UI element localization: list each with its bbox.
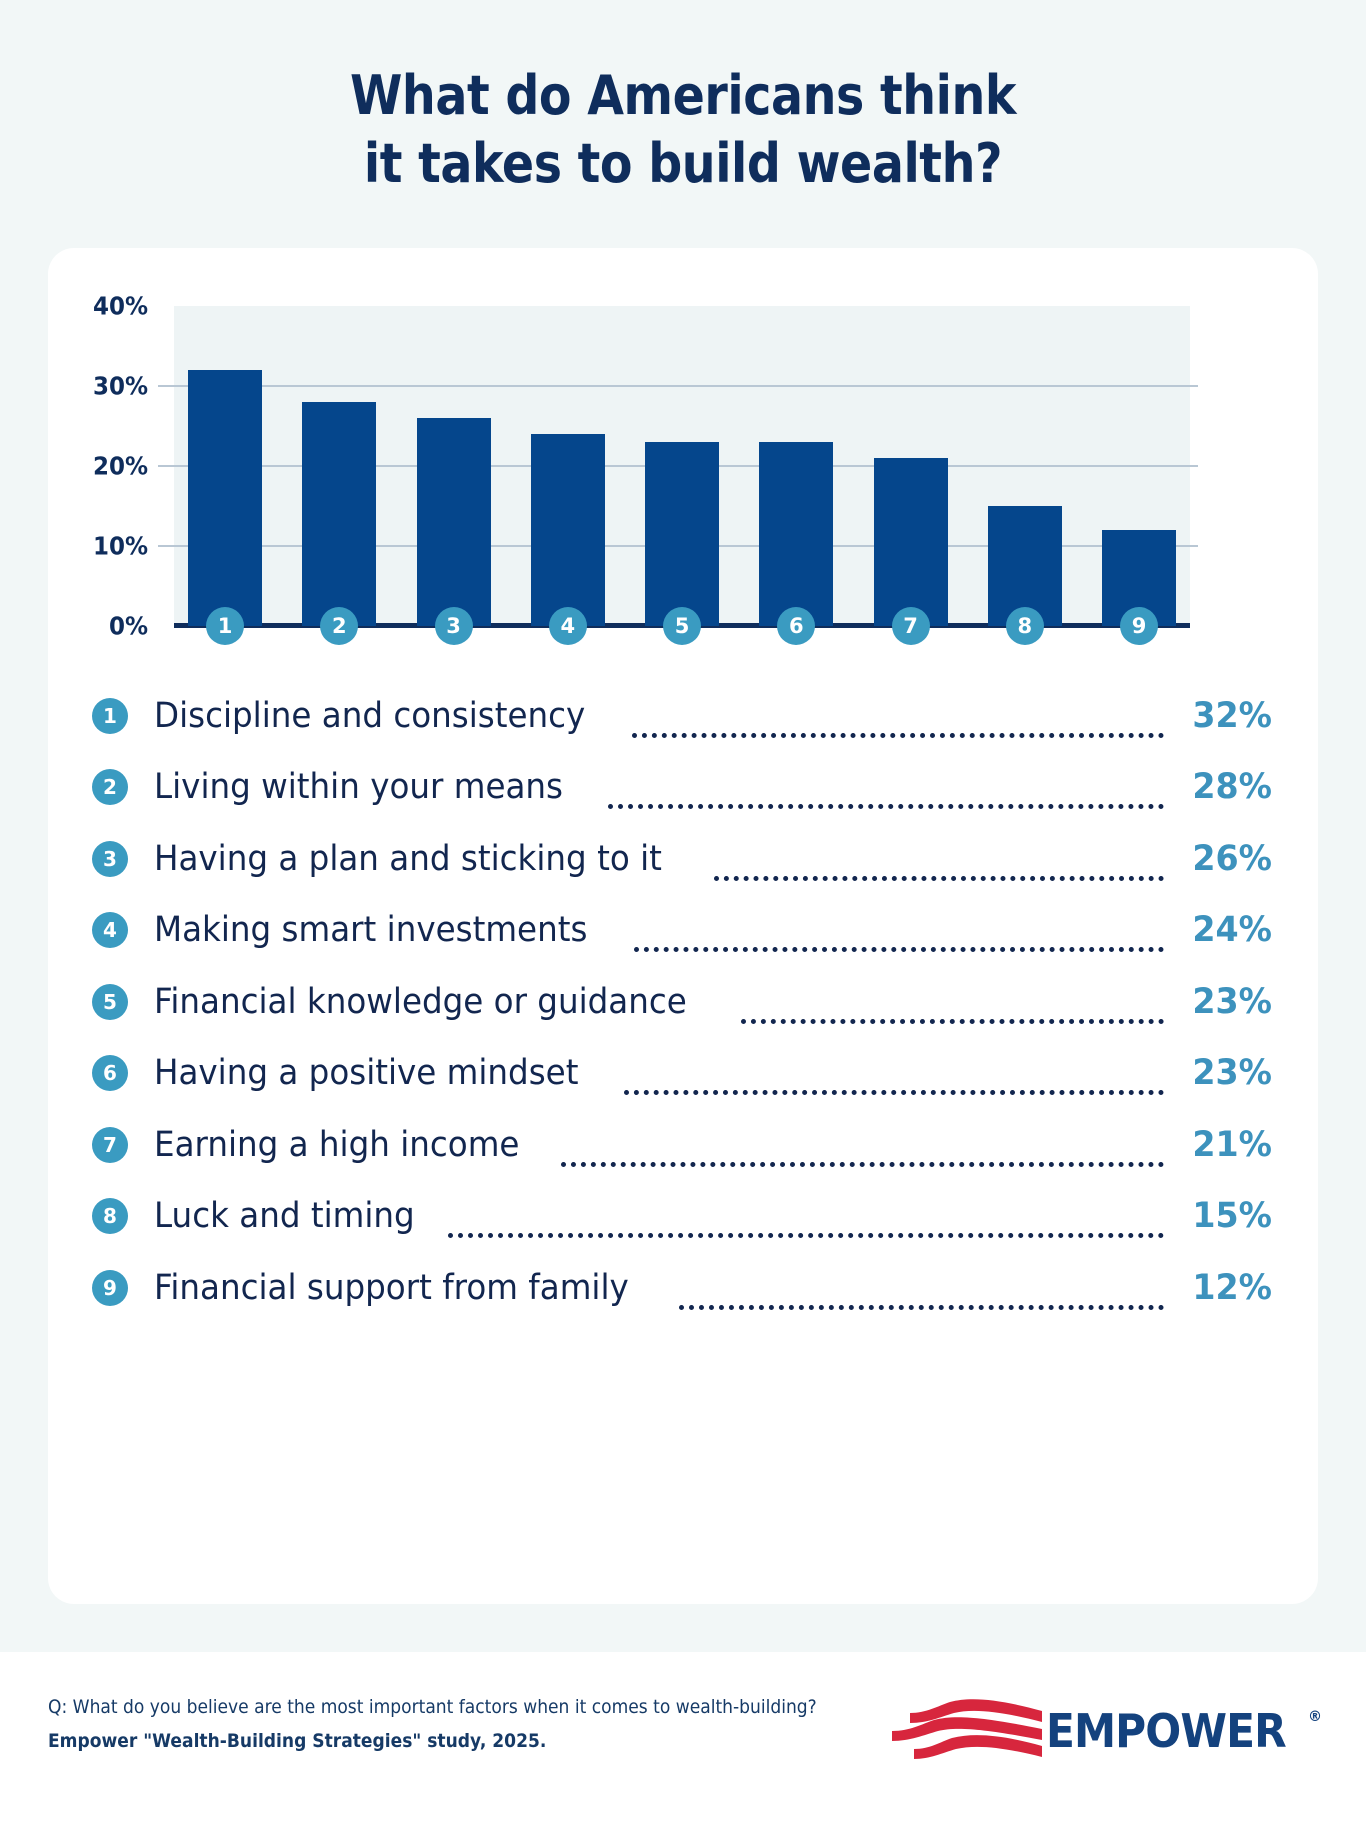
- dot-leader: [624, 1061, 1164, 1095]
- dot-leader: [679, 1276, 1165, 1310]
- bar-rank-badge: 5: [663, 607, 701, 645]
- bar-series: 123456789: [174, 306, 1190, 626]
- footer-source: Empower "Wealth-Building Strategies" stu…: [48, 1724, 786, 1758]
- list-item: 9Financial support from family12%: [92, 1252, 1272, 1324]
- bar-column: 2: [302, 306, 376, 626]
- bar: [188, 370, 262, 626]
- list-item-value: 21%: [1181, 1125, 1272, 1165]
- dot-leader: [632, 704, 1164, 738]
- ranked-list: 1Discipline and consistency32%2Living wi…: [92, 680, 1272, 1324]
- bar-column: 7: [874, 306, 948, 626]
- dot-leader: [448, 1204, 1164, 1238]
- list-item-label: Having a positive mindset: [154, 1053, 578, 1093]
- bar-rank-badge: 2: [320, 607, 358, 645]
- list-item-value: 32%: [1181, 696, 1272, 736]
- bar-column: 6: [759, 306, 833, 626]
- content-card: 40%30%20%10%0% 123456789 1Discipline and…: [48, 248, 1318, 1604]
- list-item-rank-badge: 2: [92, 769, 128, 805]
- y-axis-tick-label: 40%: [56, 294, 148, 319]
- list-item-value: 28%: [1181, 767, 1272, 807]
- list-item: 3Having a plan and sticking to it26%: [92, 823, 1272, 895]
- dot-leader: [634, 918, 1164, 952]
- list-item-label: Living within your means: [154, 767, 563, 807]
- empower-waves-icon: [892, 1698, 1042, 1765]
- plot-area-wrapper: 123456789: [158, 306, 1198, 626]
- list-item-value: 26%: [1181, 839, 1272, 879]
- bar-column: 1: [188, 306, 262, 626]
- registered-trademark-icon: ®: [1308, 1710, 1322, 1724]
- list-item-label: Earning a high income: [154, 1125, 519, 1165]
- dot-leader: [714, 847, 1164, 881]
- bar-column: 8: [988, 306, 1062, 626]
- y-axis-labels: 40%30%20%10%0%: [48, 306, 148, 626]
- bar-rank-badge: 4: [549, 607, 587, 645]
- bar: [302, 402, 376, 626]
- infographic-page: What do Americans think it takes to buil…: [0, 0, 1366, 1822]
- list-item: 6Having a positive mindset23%: [92, 1038, 1272, 1110]
- bar-rank-badge: 1: [206, 607, 244, 645]
- list-item: 7Earning a high income21%: [92, 1109, 1272, 1181]
- dot-leader: [561, 1133, 1164, 1167]
- page-title-line-1: What do Americans think: [82, 62, 1284, 130]
- list-item-label: Having a plan and sticking to it: [154, 839, 662, 879]
- footer-text-block: Q: What do you believe are the most impo…: [48, 1690, 868, 1758]
- bar: [759, 442, 833, 626]
- empower-wordmark: EMPOWER: [1046, 1708, 1286, 1754]
- y-axis-tick-label: 0%: [56, 614, 148, 639]
- bar: [417, 418, 491, 626]
- list-item-rank-badge: 9: [92, 1270, 128, 1306]
- list-item-rank-badge: 5: [92, 984, 128, 1020]
- page-title: What do Americans think it takes to buil…: [82, 62, 1284, 198]
- y-axis-tick-label: 10%: [56, 534, 148, 559]
- list-item-value: 24%: [1181, 910, 1272, 950]
- list-item-rank-badge: 6: [92, 1055, 128, 1091]
- bar: [531, 434, 605, 626]
- list-item-label: Making smart investments: [154, 910, 587, 950]
- list-item-label: Financial support from family: [154, 1268, 629, 1308]
- bar-rank-badge: 8: [1006, 607, 1044, 645]
- list-item-value: 15%: [1181, 1196, 1272, 1236]
- list-item-value: 23%: [1181, 982, 1272, 1022]
- bar-chart: 40%30%20%10%0% 123456789: [48, 248, 1318, 668]
- footer: Q: What do you believe are the most impo…: [0, 1652, 1366, 1822]
- bar-rank-badge: 3: [435, 607, 473, 645]
- list-item-label: Financial knowledge or guidance: [154, 982, 687, 1022]
- list-item-rank-badge: 7: [92, 1127, 128, 1163]
- bar-column: 3: [417, 306, 491, 626]
- list-item-value: 12%: [1181, 1268, 1272, 1308]
- dot-leader: [741, 990, 1164, 1024]
- list-item-label: Luck and timing: [154, 1196, 415, 1236]
- y-axis-tick-label: 20%: [56, 454, 148, 479]
- footer-question: Q: What do you believe are the most impo…: [48, 1690, 786, 1724]
- list-item: 5Financial knowledge or guidance23%: [92, 966, 1272, 1038]
- list-item-rank-badge: 1: [92, 698, 128, 734]
- list-item-rank-badge: 3: [92, 841, 128, 877]
- list-item-label: Discipline and consistency: [154, 696, 585, 736]
- bar: [645, 442, 719, 626]
- bar: [874, 458, 948, 626]
- list-item-rank-badge: 8: [92, 1198, 128, 1234]
- bar-column: 5: [645, 306, 719, 626]
- bar-rank-badge: 9: [1120, 607, 1158, 645]
- bar-column: 9: [1102, 306, 1176, 626]
- list-item-rank-badge: 4: [92, 912, 128, 948]
- list-item: 1Discipline and consistency32%: [92, 680, 1272, 752]
- list-item: 2Living within your means28%: [92, 752, 1272, 824]
- list-item: 8Luck and timing15%: [92, 1181, 1272, 1253]
- page-title-line-2: it takes to build wealth?: [82, 130, 1284, 198]
- list-item: 4Making smart investments24%: [92, 895, 1272, 967]
- bar-rank-badge: 6: [777, 607, 815, 645]
- list-item-value: 23%: [1181, 1053, 1272, 1093]
- bar-rank-badge: 7: [892, 607, 930, 645]
- dot-leader: [608, 775, 1164, 809]
- y-axis-tick-label: 30%: [56, 374, 148, 399]
- empower-logo: EMPOWER ®: [892, 1698, 1322, 1764]
- bar-column: 4: [531, 306, 605, 626]
